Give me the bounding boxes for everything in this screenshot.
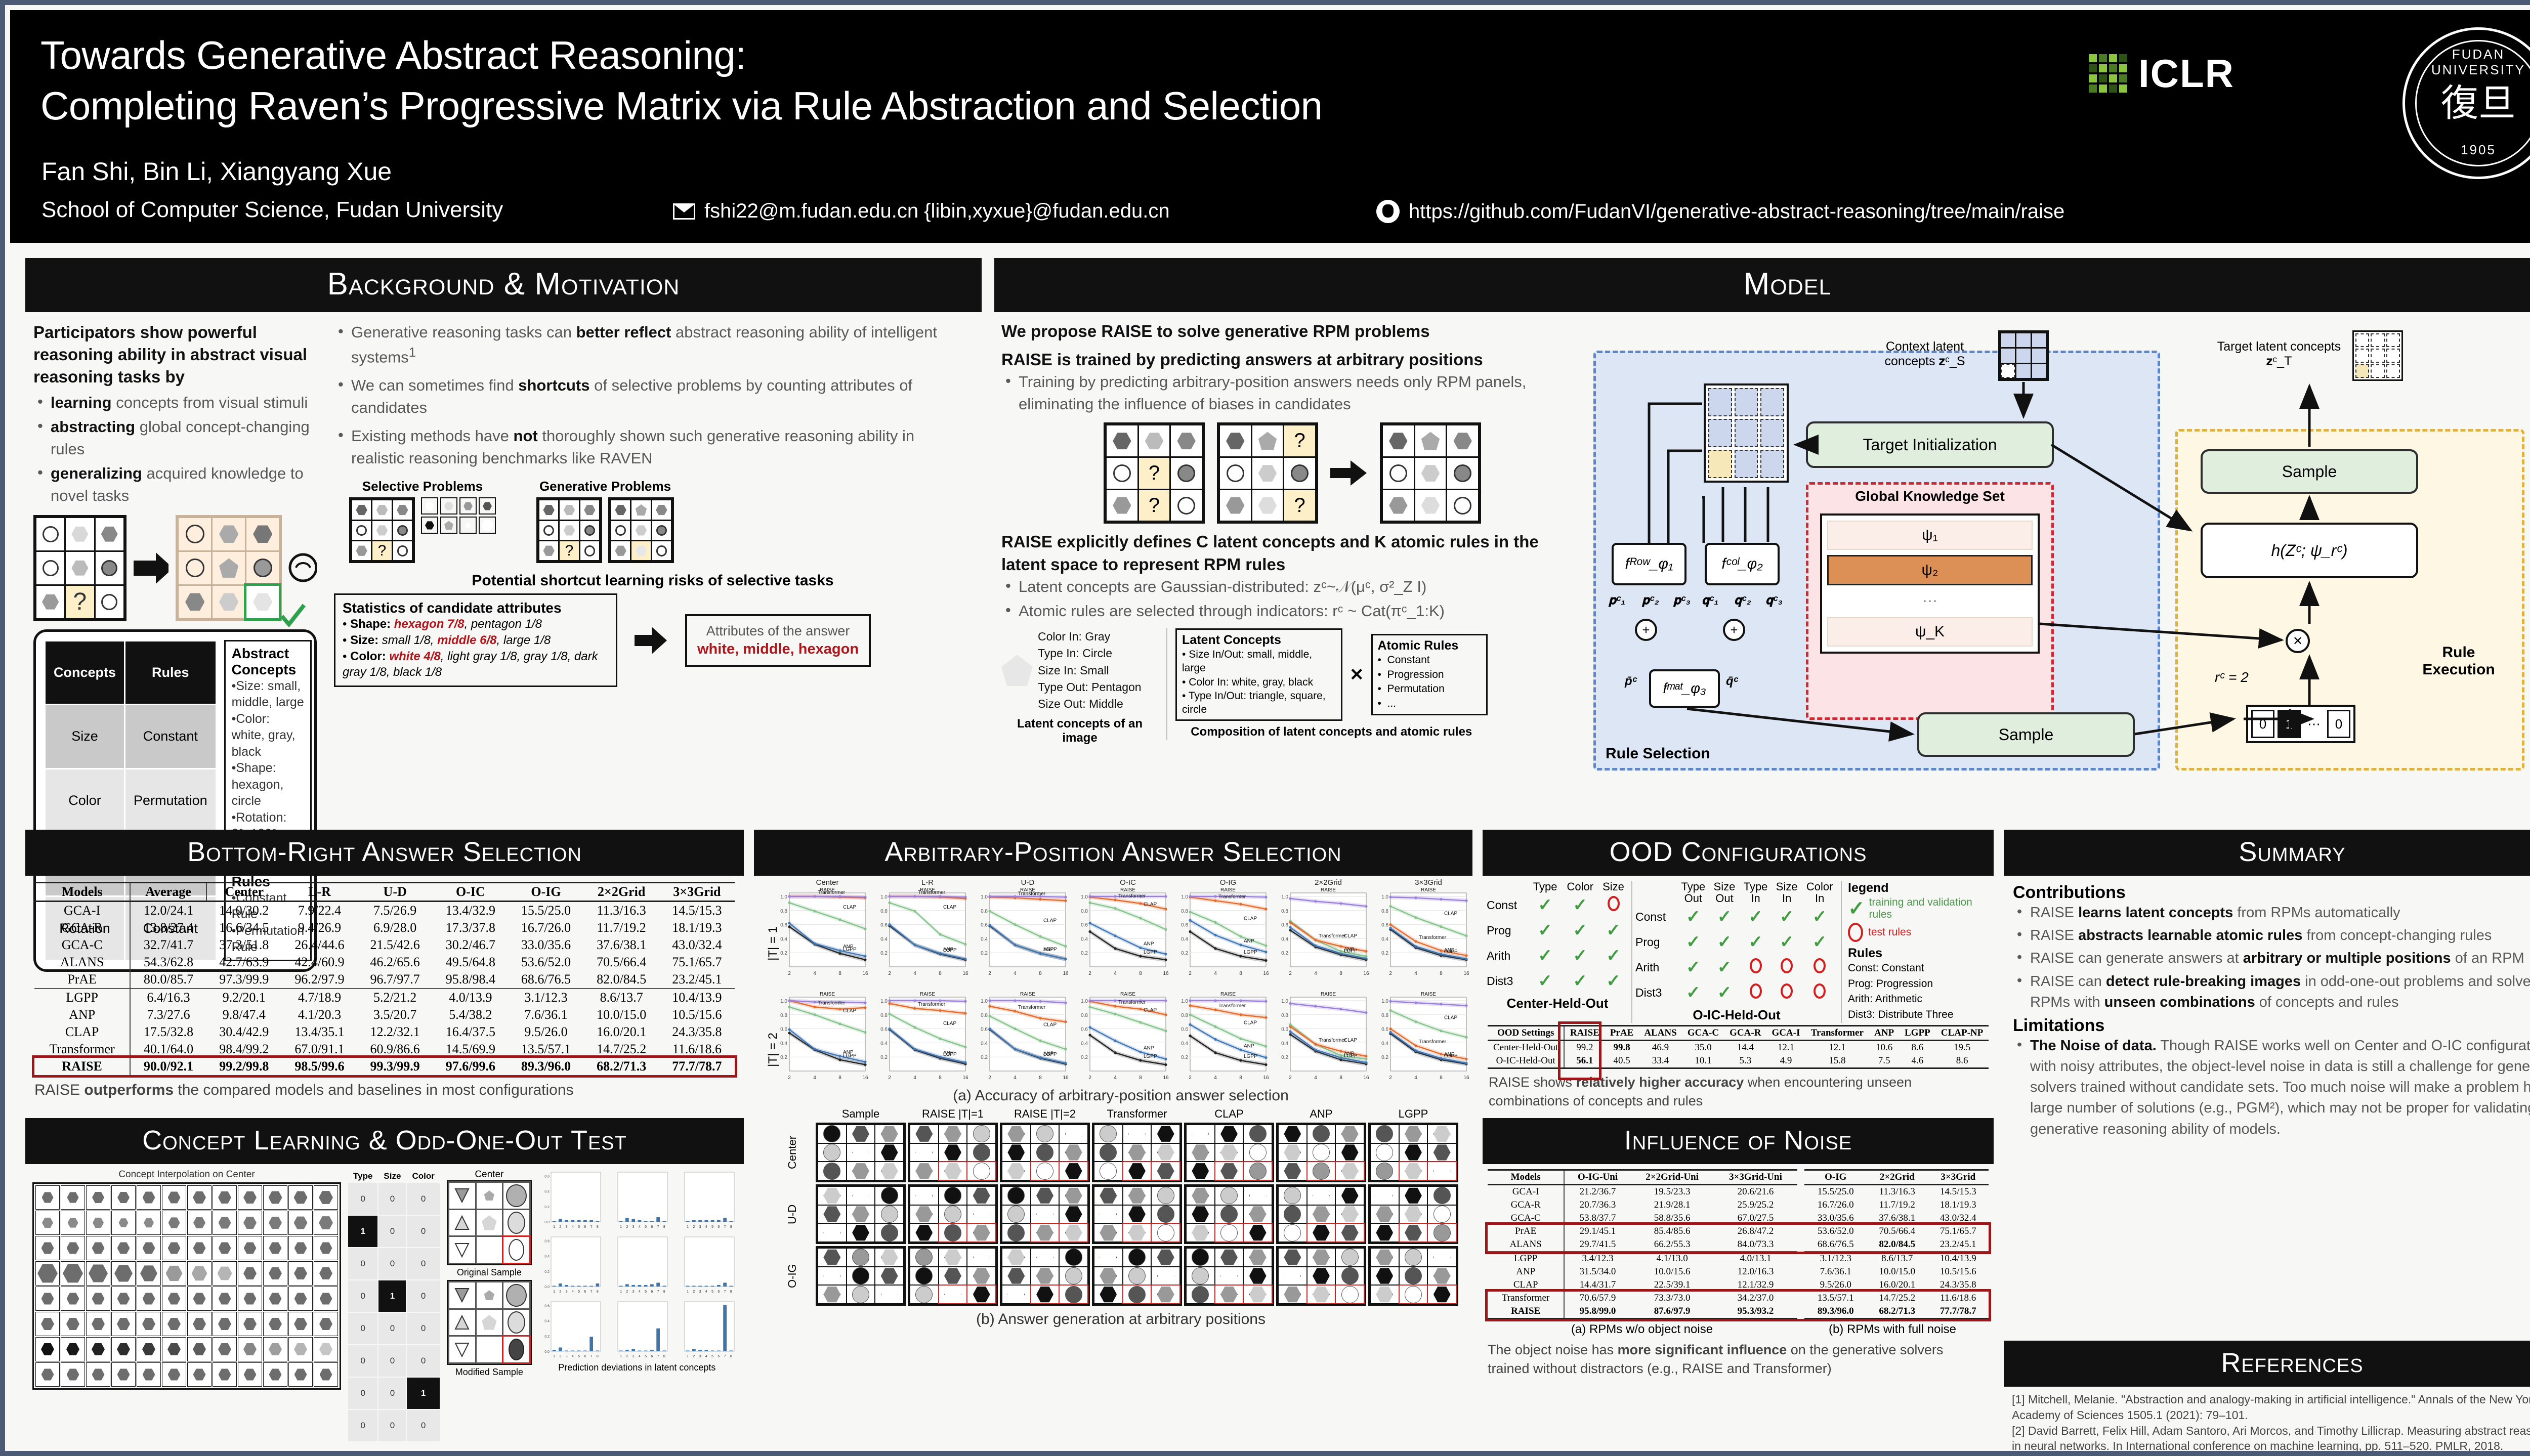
caption: Composition of latent concepts and atomi…: [1175, 725, 1488, 739]
table-row: Transformer70.6/57.973.3/73.034.2/37.013…: [1488, 1292, 1989, 1305]
svg-text:0.6: 0.6: [981, 923, 988, 928]
svg-text:0.2: 0.2: [981, 1055, 988, 1060]
svg-text:0.8: 0.8: [981, 1013, 988, 1018]
svg-text:RAISE: RAISE: [1120, 887, 1135, 893]
table-cell: 7.5: [1869, 1054, 1900, 1068]
svg-text:5: 5: [578, 1290, 580, 1294]
svg-text:0.8: 0.8: [1381, 1013, 1388, 1018]
interpolation-cell: [314, 1261, 338, 1286]
table-cell: 68.2/71.3: [584, 1058, 659, 1075]
mark-cell: [1772, 980, 1801, 1005]
table-cell: 53.6/52.0: [508, 954, 583, 971]
table-cell: 97.3/99.9: [206, 971, 282, 989]
svg-text:5: 5: [645, 1290, 647, 1294]
table-cell: 75.1/65.7: [659, 954, 735, 971]
raise-column-highlight: [1561, 1024, 1599, 1078]
mark-cell: ✓: [1677, 929, 1710, 955]
mark-cell: ✓: [1710, 929, 1739, 955]
svg-text:8: 8: [597, 1355, 599, 1358]
table-cell: 11.7/19.2: [1867, 1198, 1927, 1212]
svg-text:ANP: ANP: [1244, 1043, 1254, 1049]
list-item: Latent concepts are Gaussian-distributed…: [1001, 576, 1583, 598]
table-cell: 4.0/13.9: [433, 989, 508, 1006]
box-title: Atomic Rules: [1378, 638, 1481, 653]
svg-text:8: 8: [1339, 1075, 1342, 1081]
arrow-icon: [635, 624, 668, 657]
caption: Original Sample: [447, 1267, 532, 1278]
shortcut-title: Potential shortcut learning risks of sel…: [334, 572, 972, 589]
rpm-matrix: ?: [349, 497, 415, 563]
table-row: Prog✓✓✓: [1487, 918, 1628, 943]
svg-text:0.2: 0.2: [544, 1206, 550, 1209]
list-item: Const: Constant: [1848, 961, 1990, 976]
table-row: SizeConstant: [46, 705, 216, 767]
table-row: Arith✓✓: [1635, 955, 1838, 980]
svg-text:8: 8: [730, 1290, 732, 1294]
table-cell: 82.0/84.5: [1867, 1238, 1927, 1252]
interpolation-cell: [35, 1287, 60, 1311]
interpolation-cell: [61, 1312, 85, 1336]
table-cell: 11.7/19.2: [584, 919, 659, 936]
table-cell: 6.4/16.3: [130, 989, 206, 1006]
github-icon: [1376, 200, 1400, 223]
svg-text:2×2Grid: 2×2Grid: [1315, 879, 1342, 887]
table-row: Const✓✓: [1487, 892, 1628, 918]
svg-text:8: 8: [1239, 971, 1242, 976]
check-icon: ✓: [1748, 907, 1763, 926]
svg-text:8: 8: [663, 1355, 665, 1358]
row-label: Dist3: [1487, 968, 1529, 994]
table-cell: 8.6: [1900, 1041, 1936, 1055]
svg-text:RAISE: RAISE: [1421, 992, 1436, 997]
accuracy-chart-LR-T1: L-R0.20.40.60.81.0RAISETransformerCLAPAN…: [871, 879, 968, 980]
row-label: Arith: [1487, 943, 1529, 968]
list-item: RAISE learns latent concepts from RPMs a…: [2013, 903, 2530, 923]
check-icon: ✓: [1686, 932, 1701, 952]
table-cell: 26.8/47.2: [1714, 1225, 1801, 1238]
table-row: GCA-R13.8/27.416.6/34.59.4/26.96.9/28.01…: [34, 919, 735, 936]
svg-text:3: 3: [566, 1355, 568, 1358]
svg-text:0.4: 0.4: [1081, 1041, 1088, 1046]
table-cell: 68.2/71.3: [1867, 1305, 1927, 1319]
interpolation-cell: [61, 1261, 85, 1286]
rpm-matrix-candidates: [176, 515, 282, 621]
column-header: ColorIn: [1801, 881, 1838, 904]
svg-text:1.0: 1.0: [1281, 894, 1288, 900]
list-item: Prog: Progression: [1848, 976, 1990, 992]
box-title: Attributes of the answer: [697, 623, 859, 639]
interpolation-cell: [238, 1312, 262, 1336]
indicator-cell: 0: [378, 1183, 406, 1215]
table-cell: 12.0/16.3: [1714, 1265, 1801, 1278]
column-header: Transformer: [1092, 1107, 1182, 1121]
interpolation-cell: [187, 1362, 212, 1387]
svg-text:0.4: 0.4: [880, 936, 888, 942]
list-item: • Constant: [1378, 653, 1481, 667]
list-item: abstracting global concept-changing rule…: [33, 416, 317, 460]
list-item: Type Out: Pentagon: [1038, 679, 1142, 696]
circle-icon: [1848, 923, 1863, 942]
interpolation-cell: [162, 1261, 186, 1286]
architecture-diagram: Rule Selection Rule Execution Context la…: [1593, 320, 2530, 806]
column-header: Sample: [816, 1107, 906, 1121]
contact-email[interactable]: fshi22@m.fudan.edu.cn {libin,xyxue}@fuda…: [673, 200, 1170, 223]
svg-text:2: 2: [693, 1290, 695, 1294]
row-label: ANP: [1488, 1265, 1564, 1278]
row-label: O-IG: [771, 1246, 814, 1306]
svg-text:7: 7: [591, 1355, 593, 1358]
svg-text:LGPP: LGPP: [943, 1052, 957, 1057]
latent-concept-legends: Color In: Gray Type In: Circle Size In: …: [1001, 628, 1583, 745]
svg-text:1: 1: [553, 1290, 555, 1294]
row-label: U-D: [771, 1184, 814, 1244]
svg-text:LGPP: LGPP: [1043, 1052, 1057, 1057]
svg-text:4: 4: [813, 1075, 816, 1081]
table-cell: 13.5/57.1: [508, 1041, 583, 1058]
deviation-chart: 12345678: [605, 1299, 669, 1361]
table-cell: 53.8/37.7: [1564, 1212, 1630, 1225]
svg-text:0.2: 0.2: [1281, 951, 1288, 956]
svg-text:1: 1: [553, 1225, 555, 1229]
svg-text:3: 3: [699, 1290, 701, 1294]
svg-text:8: 8: [838, 1075, 841, 1081]
svg-text:4: 4: [1014, 971, 1017, 976]
svg-text:LGPP: LGPP: [1344, 948, 1358, 954]
row-label: GCA-R: [1488, 1198, 1564, 1212]
svg-text:2: 2: [1289, 1075, 1292, 1081]
table-cell: 96.7/97.7: [357, 971, 433, 989]
interpolation-cell: [263, 1362, 287, 1387]
svg-text:5: 5: [711, 1355, 713, 1358]
table-cell: 12.1/32.9: [1714, 1278, 1801, 1292]
table-row: Prog✓✓✓✓✓: [1635, 929, 1838, 955]
table-cell: 77.7/78.7: [659, 1058, 735, 1075]
interpolation-cell: [137, 1261, 161, 1286]
table-cell: 89.3/96.0: [508, 1058, 583, 1075]
interpolation-cell: [213, 1312, 237, 1336]
interpolation-cell: [111, 1337, 136, 1361]
svg-text:0.4: 0.4: [1181, 1041, 1188, 1046]
list-item: •Shape: hexagon, circle: [232, 760, 305, 809]
svg-text:16: 16: [962, 971, 968, 976]
interpolation-cell: [314, 1236, 338, 1260]
poster-root: Towards Generative Abstract Reasoning: C…: [0, 0, 2530, 1456]
table-cell: 98.5/99.6: [282, 1058, 357, 1075]
svg-text:0.8: 0.8: [1281, 1013, 1288, 1018]
row-label: CLAP: [1488, 1278, 1564, 1292]
svg-text:0.2: 0.2: [981, 951, 988, 956]
indicator-cell: 0: [378, 1248, 406, 1279]
interpolation-cell: [238, 1337, 262, 1361]
table-row: 000: [348, 1248, 440, 1279]
svg-text:2: 2: [788, 971, 791, 976]
svg-text:16: 16: [1363, 971, 1369, 976]
column-header: U-D: [357, 883, 433, 902]
table-row: RAISE90.0/92.199.2/99.898.5/99.699.3/99.…: [34, 1058, 735, 1075]
svg-text:0.8: 0.8: [780, 1013, 787, 1018]
svg-text:5: 5: [645, 1355, 647, 1358]
svg-text:CLAP: CLAP: [1444, 911, 1457, 917]
mark-cell: ✓: [1529, 943, 1562, 968]
svg-text:16: 16: [1163, 1075, 1169, 1081]
table-row: GCA-C32.7/41.737.3/51.826.4/44.621.5/42.…: [34, 936, 735, 954]
deviation-bars-block: 0.00.20.40.61234567812345678123456780.00…: [538, 1169, 736, 1442]
svg-text:16: 16: [1263, 971, 1269, 976]
selective-problems-group: Selective Problems ?: [349, 479, 496, 563]
center-held-out-table: TypeColorSizeConst✓✓Prog✓✓✓Arith✓✓✓Dist3…: [1487, 881, 1628, 994]
interpolation-cell: [314, 1312, 338, 1336]
circle-icon: [1750, 983, 1762, 999]
svg-text:1: 1: [553, 1355, 555, 1358]
svg-text:0.4: 0.4: [544, 1320, 550, 1323]
svg-text:0.8: 0.8: [1081, 1013, 1088, 1018]
list-item: RAISE can detect rule-breaking images in…: [2013, 971, 2530, 1013]
svg-text:0.4: 0.4: [780, 936, 787, 942]
interpolation-cell: [162, 1185, 186, 1210]
svg-text:LGPP: LGPP: [1043, 947, 1057, 953]
interpolation-cell: [61, 1185, 85, 1210]
check-icon: ✓: [1686, 907, 1701, 926]
svg-text:8: 8: [1039, 971, 1042, 976]
interpolation-cell: [263, 1261, 287, 1286]
interpolation-cell: [162, 1337, 186, 1361]
table-cell: 11.3/16.3: [1867, 1185, 1927, 1199]
svg-text:1.0: 1.0: [1381, 999, 1388, 1004]
table-cell: 16.0/20.1: [1867, 1278, 1927, 1292]
svg-text:1: 1: [620, 1225, 622, 1229]
center-held-out-block: TypeColorSizeConst✓✓Prog✓✓✓Arith✓✓✓Dist3…: [1487, 881, 1628, 1023]
column-header: Concepts: [46, 641, 124, 704]
mark-cell: ✓: [1677, 980, 1710, 1005]
table-row: Arith✓✓✓: [1487, 943, 1628, 968]
svg-text:1.0: 1.0: [1281, 999, 1288, 1004]
table-cell: 70.6/57.9: [1564, 1292, 1630, 1305]
caption: Center: [447, 1169, 532, 1180]
check-icon: ✓: [1717, 958, 1732, 977]
row-label: Transformer: [1488, 1292, 1564, 1305]
interpolation-cell: [137, 1236, 161, 1260]
table-cell: 14.0/30.2: [206, 902, 282, 920]
table-row: ColorPermutation: [46, 769, 216, 832]
svg-text:8: 8: [1139, 971, 1142, 976]
svg-text:Transformer: Transformer: [1218, 894, 1246, 900]
table-cell: 80.0/85.7: [130, 971, 206, 989]
mark-cell: ✓: [1801, 929, 1838, 955]
interpolation-cell: [61, 1211, 85, 1235]
svg-text:0.0: 0.0: [544, 1350, 550, 1354]
ood-note: RAISE shows relatively higher accuracy w…: [1483, 1069, 1994, 1110]
table-cell: 99.2/99.8: [206, 1058, 282, 1075]
svg-text:0.2: 0.2: [1081, 1055, 1088, 1060]
svg-text:CLAP: CLAP: [1244, 916, 1257, 921]
row-label: PrAE: [1488, 1225, 1564, 1238]
svg-text:CLAP: CLAP: [1144, 1007, 1157, 1013]
svg-text:0.6: 0.6: [1381, 923, 1388, 928]
svg-text:4: 4: [1414, 1075, 1417, 1081]
indicator-cell: 0: [378, 1378, 406, 1409]
svg-text:5: 5: [711, 1290, 713, 1294]
check-icon: ✓: [1717, 932, 1732, 952]
table-row: LGPP3.4/12.34.1/13.04.0/13.13.1/12.38.6/…: [1488, 1252, 1989, 1265]
row-label: LGPP: [34, 989, 130, 1006]
svg-text:16: 16: [1063, 971, 1069, 976]
mark-cell: ✓: [1801, 904, 1838, 929]
svg-text:0.4: 0.4: [544, 1190, 550, 1194]
svg-text:7: 7: [591, 1225, 593, 1229]
model-lead-1: We propose RAISE to solve generative RPM…: [1001, 320, 1583, 342]
table-cell: 10.6: [1869, 1041, 1900, 1055]
check-icon: ✓: [1573, 895, 1588, 915]
table-cell: 37.3/51.8: [206, 936, 282, 954]
brain-icon: [286, 550, 317, 586]
list-item: learning concepts from visual stimuli: [33, 392, 317, 414]
check-icon: ✓: [1606, 946, 1621, 965]
mark-cell: [1739, 980, 1772, 1005]
svg-text:1.0: 1.0: [780, 999, 787, 1004]
check-icon: ✓: [1606, 971, 1621, 991]
interpolation-cell: [61, 1236, 85, 1260]
svg-text:CLAP: CLAP: [1244, 1020, 1257, 1025]
column-header: O-IC: [433, 883, 508, 902]
row-label: ALANS: [34, 954, 130, 971]
model-left-column: We propose RAISE to solve generative RPM…: [1001, 320, 1583, 806]
svg-text:8: 8: [663, 1225, 665, 1229]
interpolation-cell: [61, 1362, 85, 1387]
table-cell: 10.1: [1682, 1054, 1724, 1068]
svg-text:6: 6: [718, 1225, 720, 1229]
svg-text:5: 5: [578, 1355, 580, 1358]
svg-text:4: 4: [913, 971, 916, 976]
accuracy-chart-UD-T2: 0.20.40.60.81.0RAISETransformerCLAPANPLG…: [972, 983, 1069, 1084]
svg-text:0.6: 0.6: [1281, 1027, 1288, 1033]
interpolation-cell: [213, 1362, 237, 1387]
interpolation-cell: [288, 1312, 313, 1336]
mark-cell: ✓: [1598, 943, 1628, 968]
table-cell: 15.5/25.0: [508, 902, 583, 920]
caption-b: (b) Answer generation at arbitrary posit…: [771, 1311, 1470, 1328]
table-cell: 89.3/96.0: [1801, 1305, 1867, 1319]
svg-text:Transformer: Transformer: [1319, 1038, 1346, 1043]
svg-text:4: 4: [705, 1290, 707, 1294]
check-icon: ✓: [1573, 946, 1588, 965]
legend-title: legend: [1848, 881, 1990, 895]
svg-text:6: 6: [718, 1290, 720, 1294]
svg-text:Transformer: Transformer: [1118, 1000, 1146, 1005]
svg-text:Center: Center: [816, 879, 838, 887]
svg-text:0.8: 0.8: [1181, 909, 1188, 914]
check-icon: ✓: [1538, 895, 1552, 915]
table-row: ANP7.3/27.69.8/47.44.1/20.33.5/20.75.4/3…: [34, 1006, 735, 1023]
svg-text:0.4: 0.4: [1381, 936, 1388, 942]
column-header: Average: [130, 883, 206, 902]
repo-link[interactable]: https://github.com/FudanVI/generative-ab…: [1376, 200, 2064, 223]
table-row: Const✓✓✓✓✓: [1635, 904, 1838, 929]
section-title-noise: Influence of Noise: [1483, 1118, 1994, 1164]
original-rpm: [447, 1180, 532, 1265]
svg-text:4: 4: [1114, 1075, 1117, 1081]
svg-text:4: 4: [639, 1290, 641, 1294]
table-cell: 33.0/35.6: [1801, 1212, 1867, 1225]
indicator-cell: 0: [348, 1183, 377, 1215]
list-item: • Shape: hexagon 7/8, pentagon 1/8: [343, 616, 609, 632]
svg-text:0.8: 0.8: [780, 909, 787, 914]
svg-text:RAISE: RAISE: [1020, 992, 1035, 997]
o-ic-held-out-block: TypeOutSizeOutTypeInSizeInColorInConst✓✓…: [1635, 881, 1838, 1023]
list-item: Training by predicting arbitrary-positio…: [1001, 371, 1583, 415]
deviation-chart: 12345678: [605, 1234, 669, 1297]
list-item: Generative reasoning tasks can better re…: [334, 321, 972, 368]
table-cell: 10.5/15.6: [1928, 1265, 1989, 1278]
list-item: • Size In/Out: small, middle, large: [1182, 648, 1336, 675]
svg-text:0.8: 0.8: [1281, 909, 1288, 914]
row-label-t2: |T| = 2: [766, 1033, 780, 1067]
svg-text:LGPP: LGPP: [943, 948, 957, 953]
table-cell: 96.2/97.9: [282, 971, 357, 989]
table-cell: 17.5/32.8: [130, 1023, 206, 1041]
table-row: PrAE29.1/45.185.4/85.626.8/47.253.6/52.0…: [1488, 1225, 1989, 1238]
table-cell: 49.5/64.8: [433, 954, 508, 971]
table-row: GCA-I21.2/36.719.5/23.320.6/21.615.5/25.…: [1488, 1185, 1989, 1199]
row-label: Const: [1635, 904, 1677, 929]
svg-text:0.8: 0.8: [1081, 909, 1088, 914]
svg-text:LGPP: LGPP: [1144, 950, 1157, 955]
svg-text:LGPP: LGPP: [1444, 1053, 1458, 1059]
ood-legend: legend ✓ training and validation rules t…: [1845, 881, 1990, 1023]
generative-problems-group: Generative Problems ?: [536, 479, 674, 563]
svg-text:16: 16: [962, 1075, 968, 1081]
row-label: Const: [1487, 892, 1529, 918]
interpolation-cell: [35, 1185, 60, 1210]
check-icon: ✓: [1812, 932, 1827, 952]
column-header: Center: [206, 883, 282, 902]
generated-rpm: [1000, 1184, 1090, 1244]
table-cell: 67.0/27.5: [1714, 1212, 1801, 1225]
interpolation-cell: [263, 1185, 287, 1210]
table-cell: 14.5/15.3: [659, 902, 735, 920]
interpolation-cell: [288, 1185, 313, 1210]
table-cell: 16.6/34.5: [206, 919, 282, 936]
table-cell: 4.6: [1900, 1054, 1936, 1068]
generated-rpm: [908, 1123, 998, 1182]
table-cell: 10.5/15.6: [659, 1006, 735, 1023]
mark-cell: ✓: [1710, 904, 1739, 929]
svg-text:L-R: L-R: [921, 879, 934, 887]
table-cell: 6.9/28.0: [357, 919, 433, 936]
row-label: Prog: [1635, 929, 1677, 955]
table-row: 000: [348, 1345, 440, 1377]
box-title: Latent Concepts: [1182, 633, 1336, 648]
svg-text:4: 4: [639, 1355, 641, 1358]
table-cell: 4.9: [1766, 1054, 1805, 1068]
bottom-right-note: RAISE outperforms the compared models an…: [34, 1080, 735, 1101]
svg-text:0.4: 0.4: [1081, 936, 1088, 942]
row-label: Dist3: [1635, 980, 1677, 1005]
reference-item: [2] David Barrett, Felix Hill, Adam Sant…: [2012, 1423, 2530, 1454]
column-header: 3×3Grid: [1928, 1170, 1989, 1185]
svg-text:0.2: 0.2: [780, 951, 787, 956]
column-header: SizeIn: [1772, 881, 1801, 904]
mark-cell: [1598, 892, 1628, 918]
svg-text:3: 3: [566, 1225, 568, 1229]
svg-text:0.6: 0.6: [544, 1240, 550, 1244]
interpolation-cell: [86, 1261, 110, 1286]
svg-text:8: 8: [939, 1075, 942, 1081]
table-cell: 15.8: [1805, 1054, 1869, 1068]
table-row: Transformer40.1/64.098.4/99.267.0/91.160…: [34, 1041, 735, 1058]
interpolation-cell: [35, 1362, 60, 1387]
interpolation-cell: [137, 1337, 161, 1361]
rpm-matrix-masked-b: ? ?: [1217, 422, 1318, 524]
